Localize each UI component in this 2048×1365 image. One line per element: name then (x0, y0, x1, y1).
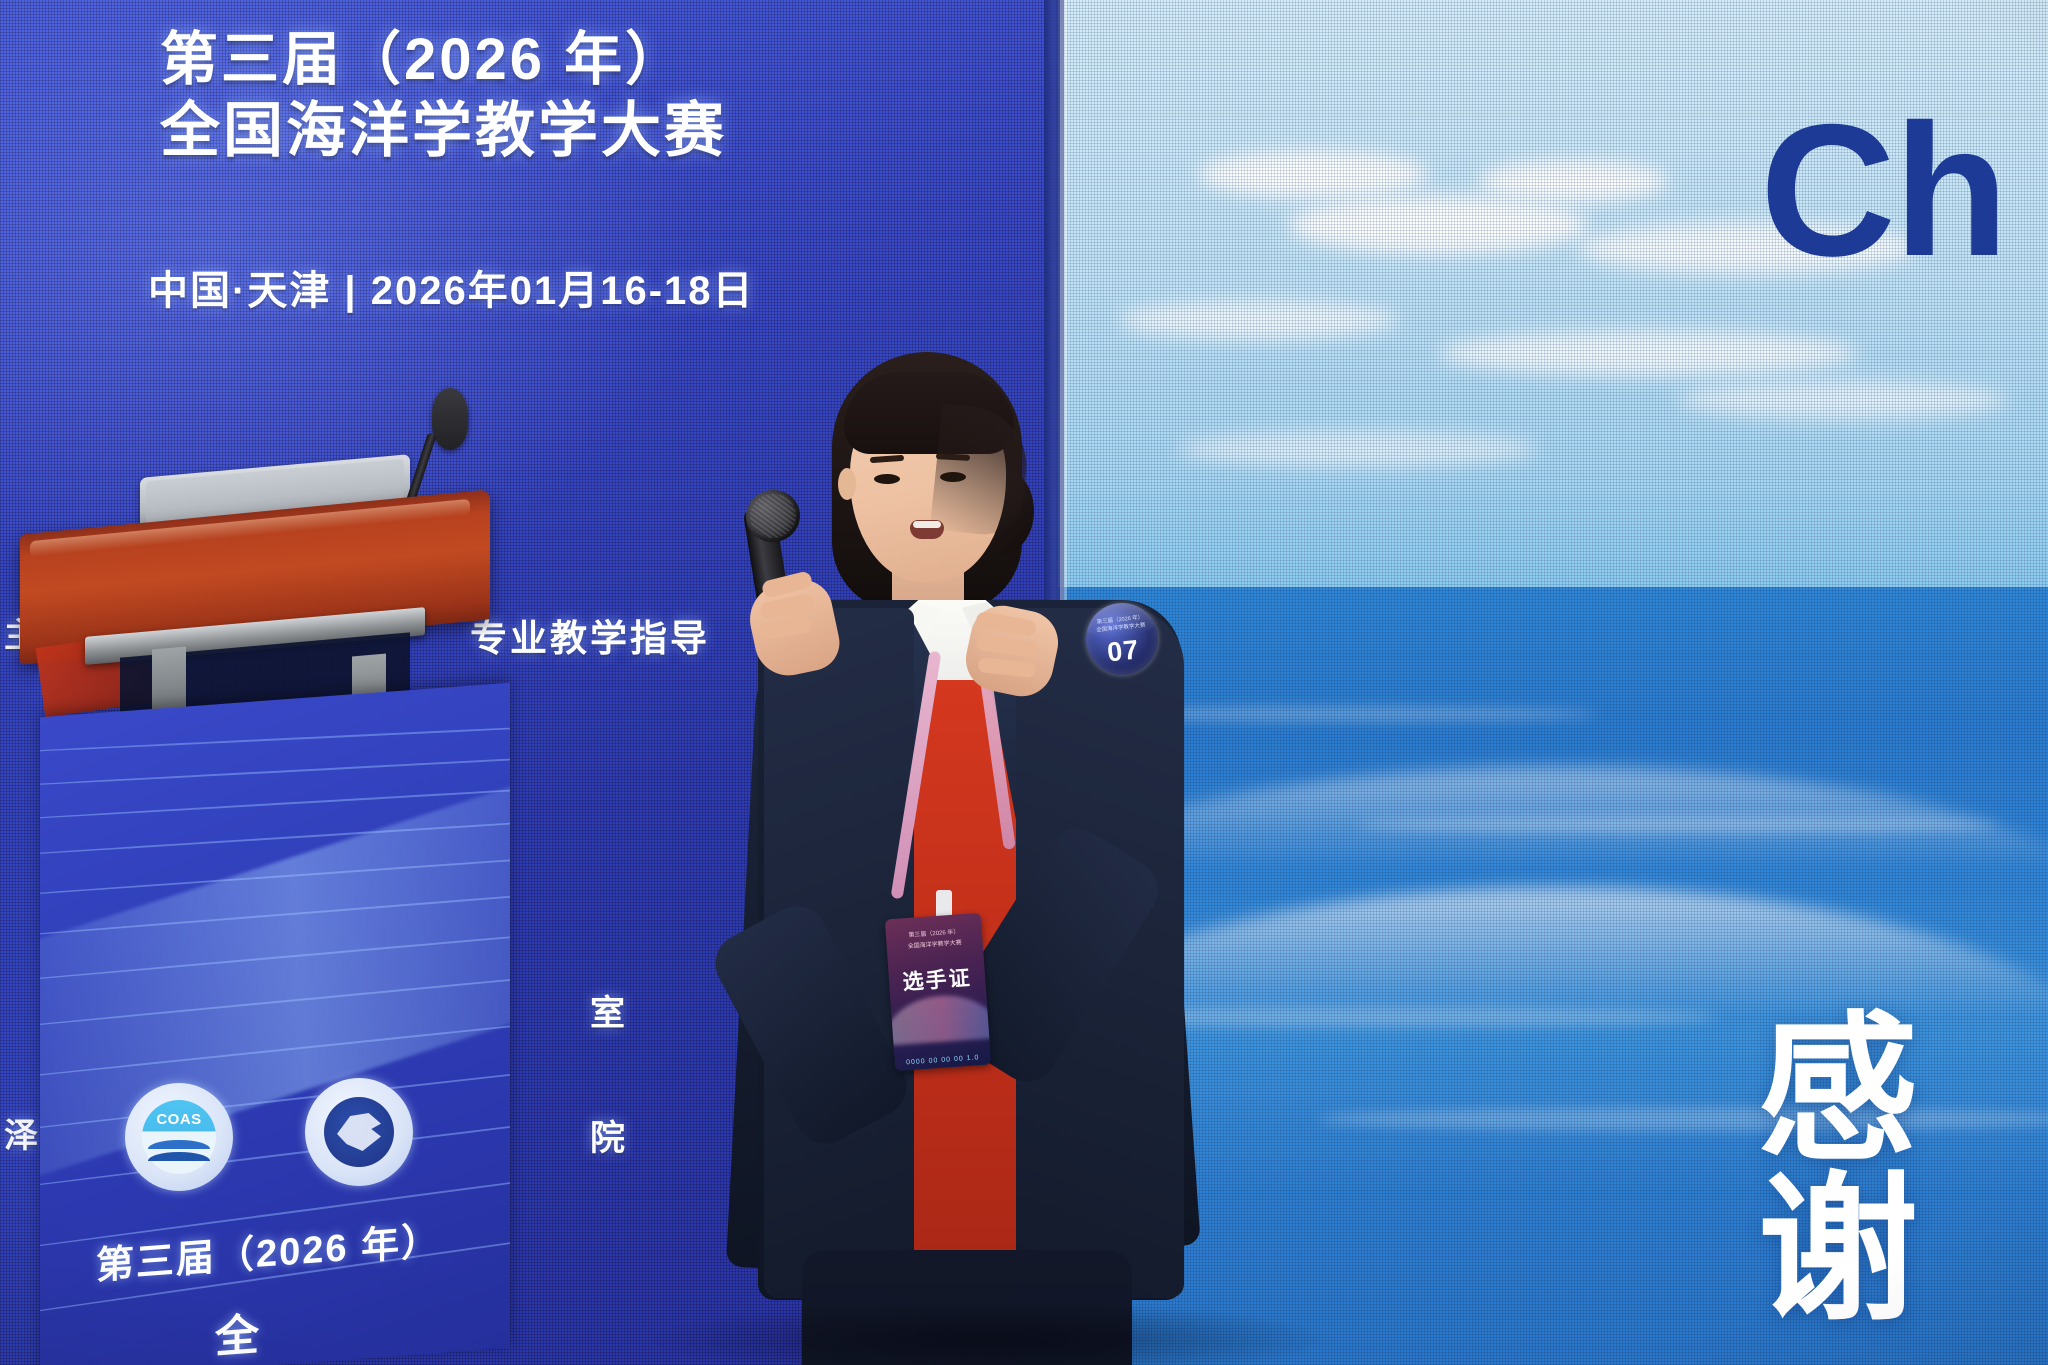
lanyard-clip (936, 890, 952, 918)
id-card-wave-graphic (885, 992, 991, 1046)
backdrop-title-line2: 全国海洋学教学大赛 (160, 94, 880, 167)
id-card-title: 选手证 (888, 961, 986, 998)
tju-logo-inner (324, 1097, 394, 1167)
backdrop-title: 第三届（2026 年） 全国海洋学教学大赛 (160, 26, 880, 168)
wave-line (1358, 817, 1998, 833)
contestant-id-card: 第三届（2026 年） 全国海洋学教学大赛 选手证 0000 00 00 00 … (885, 913, 991, 1071)
floor-shadow (640, 1300, 1340, 1365)
tianjin-university-logo (305, 1078, 413, 1186)
badge-number: 07 (1106, 634, 1141, 668)
id-card-footer: 0000 00 00 00 1.0 (895, 1053, 991, 1067)
presenter: 第三届（2026 年） 全国海洋学教学大赛 选手证 0000 00 00 00 … (740, 350, 1200, 1365)
cloud-shape (1178, 430, 1538, 468)
coas-wave-shape (148, 1152, 210, 1161)
cloud-shape (1678, 380, 2008, 420)
ear (838, 468, 856, 500)
coas-wave-shape (148, 1140, 210, 1149)
eye (874, 474, 900, 484)
podium-footer-line2: 全 (215, 1298, 259, 1365)
coas-logo: COAS (125, 1083, 233, 1191)
cloud-shape (1438, 330, 1858, 376)
backdrop-partial-text-room: 室 (590, 985, 628, 1036)
podium-microphone-head-icon (432, 388, 468, 450)
eye (940, 472, 966, 482)
tju-emblem-icon (337, 1113, 381, 1151)
backdrop-teaching-guidance-text: 专业教学指导 (470, 608, 710, 662)
stage-photo: 第三届（2026 年） 全国海洋学教学大赛 中国·天津 | 2026年01月16… (0, 0, 2048, 1365)
backdrop-date-line: 中国·天津 | 2026年01月16-18日 (148, 258, 755, 316)
slide-heading-text: Ch (1760, 96, 2007, 284)
teeth (913, 521, 941, 528)
slide-thanks-text: 感谢 (1758, 1010, 2048, 1330)
cloud-shape (1478, 160, 1668, 202)
coas-logo-inner: COAS (142, 1100, 216, 1174)
cloud-shape (1198, 150, 1428, 198)
backdrop-partial-text-left-bottom: 泽 (4, 1108, 41, 1157)
cloud-shape (1118, 300, 1398, 340)
coas-logo-acronym: COAS (156, 1111, 201, 1128)
backdrop-title-line1: 第三届（2026 年） (160, 26, 880, 94)
backdrop-partial-text-college: 院 (590, 1110, 628, 1161)
cloud-shape (1288, 196, 1588, 254)
